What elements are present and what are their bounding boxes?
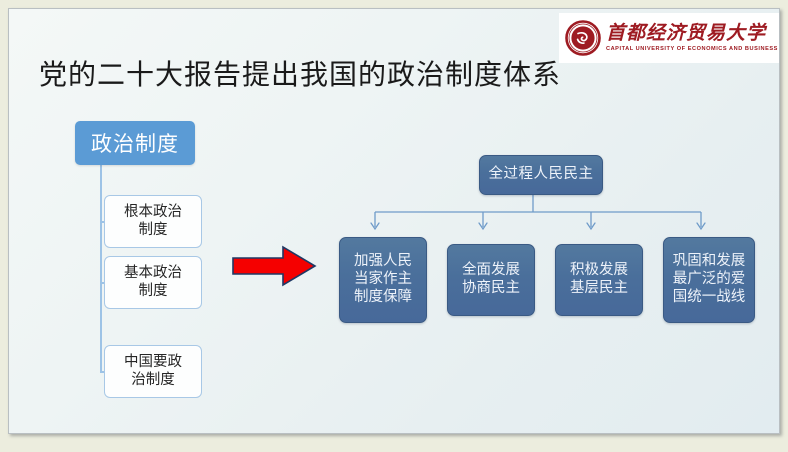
node-label: 加强人民 当家作主 制度保障 bbox=[354, 253, 412, 306]
slide-canvas: 首都经济贸易大学 CAPITAL UNIVERSITY OF ECONOMICS… bbox=[8, 8, 780, 434]
university-name-group: 首都经济贸易大学 CAPITAL UNIVERSITY OF ECONOMICS… bbox=[606, 24, 778, 52]
node-consultative-democracy[interactable]: 全面发展 协商民主 bbox=[447, 244, 535, 316]
node-label: 巩固和发展 最广泛的爱 国统一战线 bbox=[673, 253, 746, 306]
node-whole-process-peoples-democracy[interactable]: 全过程人民民主 bbox=[479, 155, 603, 195]
node-label: 中国要政 治制度 bbox=[124, 354, 182, 388]
node-strengthen-institutional-guarantees[interactable]: 加强人民 当家作主 制度保障 bbox=[339, 237, 427, 323]
node-china-political-system[interactable]: 中国要政 治制度 bbox=[104, 345, 202, 398]
node-patriotic-united-front[interactable]: 巩固和发展 最广泛的爱 国统一战线 bbox=[663, 237, 755, 323]
node-label: 根本政治 制度 bbox=[124, 204, 182, 238]
page-title: 党的二十大报告提出我国的政治制度体系 bbox=[39, 53, 561, 93]
university-name-cn: 首都经济贸易大学 bbox=[606, 24, 778, 44]
university-logo-block: 首都经济贸易大学 CAPITAL UNIVERSITY OF ECONOMICS… bbox=[559, 13, 780, 63]
node-political-system-root[interactable]: 政治制度 bbox=[75, 121, 195, 165]
node-label: 基本政治 制度 bbox=[124, 265, 182, 299]
university-name-en: CAPITAL UNIVERSITY OF ECONOMICS AND BUSI… bbox=[606, 46, 778, 52]
tree-connector-vertical bbox=[100, 165, 102, 372]
red-right-arrow-icon bbox=[231, 244, 317, 288]
node-label: 政治制度 bbox=[91, 128, 179, 158]
node-basic-political-system[interactable]: 基本政治 制度 bbox=[104, 256, 202, 309]
node-grassroots-democracy[interactable]: 积极发展 基层民主 bbox=[555, 244, 643, 316]
node-label: 积极发展 基层民主 bbox=[570, 262, 628, 297]
node-label: 全过程人民民主 bbox=[489, 166, 594, 184]
node-label: 全面发展 协商民主 bbox=[462, 262, 520, 297]
node-fundamental-political-system[interactable]: 根本政治 制度 bbox=[104, 195, 202, 248]
university-seal-icon bbox=[565, 20, 601, 56]
